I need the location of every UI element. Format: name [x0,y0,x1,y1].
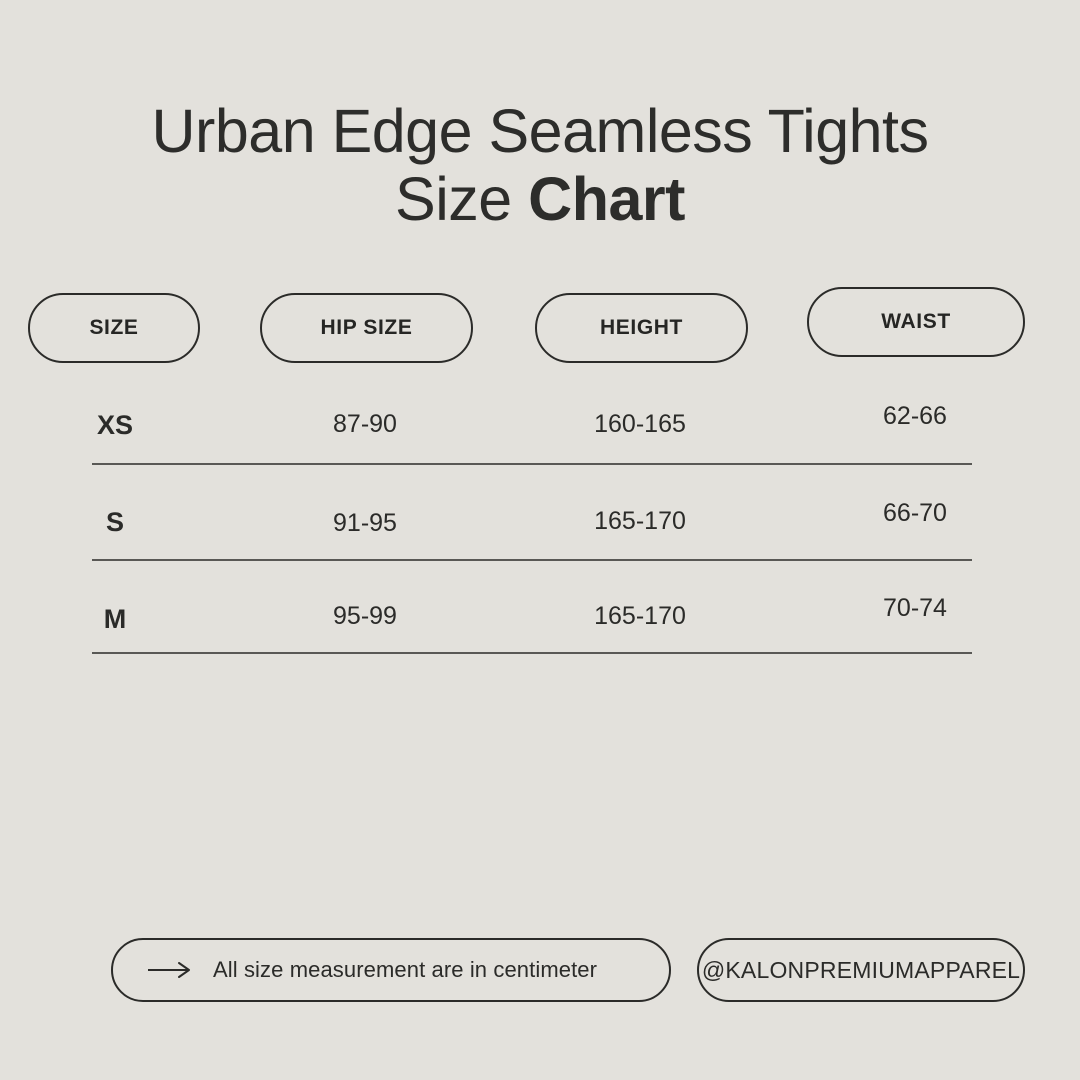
measurement-note-pill: All size measurement are in centimeter [111,938,671,1002]
cell-height: 165-170 [540,507,740,536]
cell-hip: 87-90 [265,410,465,439]
footer: All size measurement are in centimeter @… [0,934,1080,1006]
table-row: M 95-99 165-170 70-74 [0,574,1080,671]
row-divider [92,559,972,561]
title-chart-word: Chart [528,165,685,233]
arrow-right-icon [147,960,193,980]
cell-size: M [65,604,165,635]
column-header-waist-label: WAIST [881,310,951,334]
cell-size: XS [65,410,165,441]
table-row: XS 87-90 160-165 62-66 [0,380,1080,477]
column-header-size-label: SIZE [89,316,138,340]
cell-height: 165-170 [540,602,740,631]
cell-waist: 70-74 [815,594,1015,623]
table-header-row: SIZE HIP SIZE HEIGHT WAIST [0,287,1080,367]
cell-waist: 66-70 [815,499,1015,528]
title-size-word: Size [395,165,528,233]
cell-size: S [65,507,165,538]
measurement-note-text: All size measurement are in centimeter [213,957,597,983]
row-divider [92,652,972,654]
column-header-size[interactable]: SIZE [28,293,200,363]
size-table: XS 87-90 160-165 62-66 S 91-95 165-170 6… [0,380,1080,671]
column-header-height-label: HEIGHT [600,316,683,340]
column-header-height[interactable]: HEIGHT [535,293,748,363]
brand-handle-text: @KALONPREMIUMAPPAREL [702,957,1020,984]
row-divider [92,463,972,465]
title-line-2: Size Chart [0,168,1080,230]
cell-hip: 95-99 [265,602,465,631]
page-title: Urban Edge Seamless Tights Size Chart [0,100,1080,230]
cell-height: 160-165 [540,410,740,439]
table-row: S 91-95 165-170 66-70 [0,477,1080,574]
column-header-waist[interactable]: WAIST [807,287,1025,357]
cell-waist: 62-66 [815,402,1015,431]
column-header-hip-size[interactable]: HIP SIZE [260,293,473,363]
cell-hip: 91-95 [265,509,465,538]
column-header-hip-size-label: HIP SIZE [321,316,413,340]
brand-handle-pill[interactable]: @KALONPREMIUMAPPAREL [697,938,1025,1002]
title-line-1: Urban Edge Seamless Tights [0,100,1080,162]
